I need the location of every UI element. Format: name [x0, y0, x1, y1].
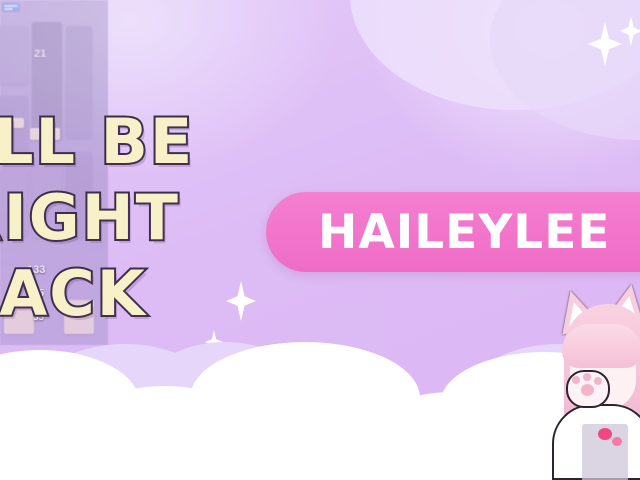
- paw-pad: [581, 384, 594, 396]
- avatar-overlay-dot: [598, 428, 612, 440]
- paw-pad: [572, 376, 580, 384]
- captured-tile: [0, 26, 28, 84]
- channel-name-label: HAILEYLEE: [318, 205, 610, 260]
- brb-overlay-screen: 21 133 65 53 I'LL BE RIGHT BACK HAILEYLE…: [0, 0, 640, 480]
- captured-number: 21: [34, 48, 46, 60]
- paw-mitten-icon: [566, 370, 610, 408]
- headline-line-1: I'LL BE: [0, 104, 308, 180]
- paw-pad: [583, 373, 591, 381]
- channel-name-pill: HAILEYLEE: [266, 192, 640, 272]
- page-title: I'LL BE RIGHT BACK: [0, 104, 308, 332]
- avatar-fringe: [562, 324, 640, 368]
- headline-line-2: RIGHT: [0, 180, 308, 256]
- live-badge-icon: [2, 3, 20, 12]
- catgirl-avatar: [534, 280, 640, 480]
- paw-pad: [594, 377, 602, 385]
- avatar-overlay-dot-secondary: [612, 437, 622, 446]
